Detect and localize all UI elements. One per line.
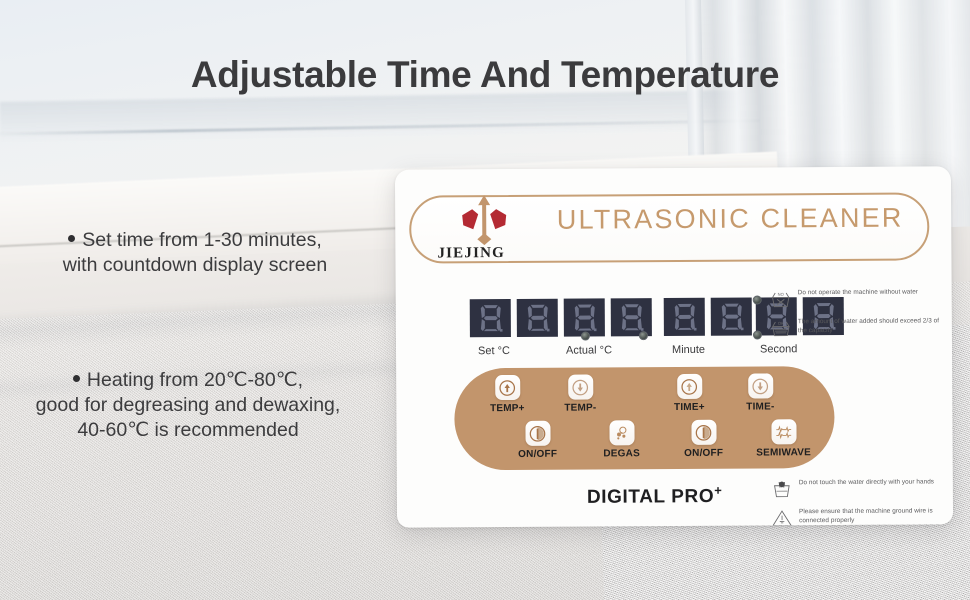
heater-indicator-led — [581, 332, 590, 341]
time-up-button[interactable]: TIME+ — [662, 374, 716, 413]
semiwave-label: SEMIWAVE — [751, 447, 817, 458]
jiejing-emblem-icon — [453, 193, 515, 245]
feature-text: good for degreasing and dewaxing, — [36, 394, 341, 416]
seg-digit — [470, 299, 511, 337]
seg-digit — [517, 299, 558, 337]
control-panel: JIEJING ULTRASONIC CLEANER — [395, 166, 953, 527]
top-warnings: NO Do not operate the machine without wa… — [770, 288, 946, 347]
temp-up-label: TEMP+ — [480, 403, 534, 414]
ultrasonic-onoff-label: ON/OFF — [675, 448, 733, 459]
feature-time: Set time from 1-30 minutes, with countdo… — [30, 228, 360, 278]
seg-digit — [611, 298, 652, 336]
feature-text: 40-60℃ is recommended — [77, 419, 298, 441]
bottom-brand-superscript: + — [714, 483, 722, 498]
minute-label: Minute — [672, 344, 705, 356]
water-warning-led — [753, 295, 762, 304]
temp-up-button[interactable]: TEMP+ — [480, 375, 534, 414]
seg-digit — [664, 298, 705, 336]
timer-indicator-led — [639, 331, 648, 340]
feature-line: good for degreasing and dewaxing, — [8, 393, 368, 418]
feature-line: Set time from 1-30 minutes, — [30, 228, 360, 253]
no-water-warning: NO Do not operate the machine without wa… — [770, 288, 946, 309]
no-touch-water-warning: Do not touch the water directly with you… — [771, 478, 947, 499]
feature-text: with countdown display screen — [63, 254, 327, 276]
set-temperature-label: Set °C — [478, 345, 510, 357]
semiwave-button[interactable]: SEMIWAVE — [750, 419, 816, 458]
heater-onoff-button[interactable]: ON/OFF — [508, 421, 566, 460]
no-water-warning-text: Do not operate the machine without water — [798, 289, 918, 298]
actual-temperature-label: Actual °C — [566, 344, 612, 356]
actual-temperature-display — [564, 298, 652, 337]
product-title: ULTRASONIC CLEANER — [545, 203, 915, 236]
bubbles-icon — [609, 420, 634, 445]
bullet-icon — [68, 235, 75, 242]
feature-text: Heating from 20℃-80℃, — [87, 369, 303, 391]
warning-triangle-icon — [771, 508, 793, 527]
ground-wire-warning-text: Please ensure that the machine ground wi… — [799, 507, 947, 525]
svg-text:OK: OK — [778, 321, 784, 326]
bottom-brand-text: DIGITAL PRO — [587, 486, 714, 508]
water-capacity-warning: OK The amount of water added should exce… — [770, 317, 946, 338]
circle-up-arrow-icon — [495, 375, 520, 400]
ok-tub-icon: OK — [770, 318, 792, 338]
feature-line: with countdown display screen — [30, 253, 360, 278]
time-down-label: TIME- — [733, 401, 787, 412]
no-touch-water-warning-text: Do not touch the water directly with you… — [799, 478, 934, 487]
time-down-button[interactable]: TIME- — [733, 373, 787, 412]
minute-display — [664, 298, 752, 337]
power-circle-icon — [691, 420, 716, 445]
feature-heating: Heating from 20℃-80℃, good for degreasin… — [8, 368, 368, 443]
circle-down-arrow-icon — [568, 374, 593, 399]
water-capacity-warning-text: The amount of water added should exceed … — [798, 317, 946, 335]
degas-label: DEGAS — [593, 448, 651, 459]
no-hand-in-water-icon — [771, 479, 793, 499]
waveform-icon — [771, 419, 796, 444]
bullet-icon — [73, 375, 80, 382]
brand-name: JIEJING — [437, 245, 505, 262]
water-level-led — [753, 330, 762, 339]
circle-down-arrow-icon — [748, 373, 773, 398]
temp-down-label: TEMP- — [553, 402, 607, 413]
bottom-brand: DIGITAL PRO+ — [587, 483, 723, 509]
set-temperature-display — [470, 299, 558, 338]
ultrasonic-onoff-button[interactable]: ON/OFF — [674, 420, 732, 459]
temp-down-button[interactable]: TEMP- — [553, 374, 607, 413]
seg-digit — [711, 298, 752, 336]
degas-button[interactable]: DEGAS — [592, 420, 650, 459]
page-title: Adjustable Time And Temperature — [0, 54, 970, 96]
bottom-warnings: Do not touch the water directly with you… — [771, 478, 947, 527]
svg-text:NO: NO — [778, 292, 784, 297]
no-tub-icon: NO — [770, 289, 792, 309]
feature-text: Set time from 1-30 minutes, — [82, 229, 322, 251]
power-circle-icon — [525, 421, 550, 446]
feature-line: Heating from 20℃-80℃, — [8, 368, 368, 393]
time-up-label: TIME+ — [662, 402, 716, 413]
feature-line: 40-60℃ is recommended — [8, 418, 368, 443]
heater-onoff-label: ON/OFF — [509, 449, 567, 460]
circle-up-arrow-icon — [677, 374, 702, 399]
